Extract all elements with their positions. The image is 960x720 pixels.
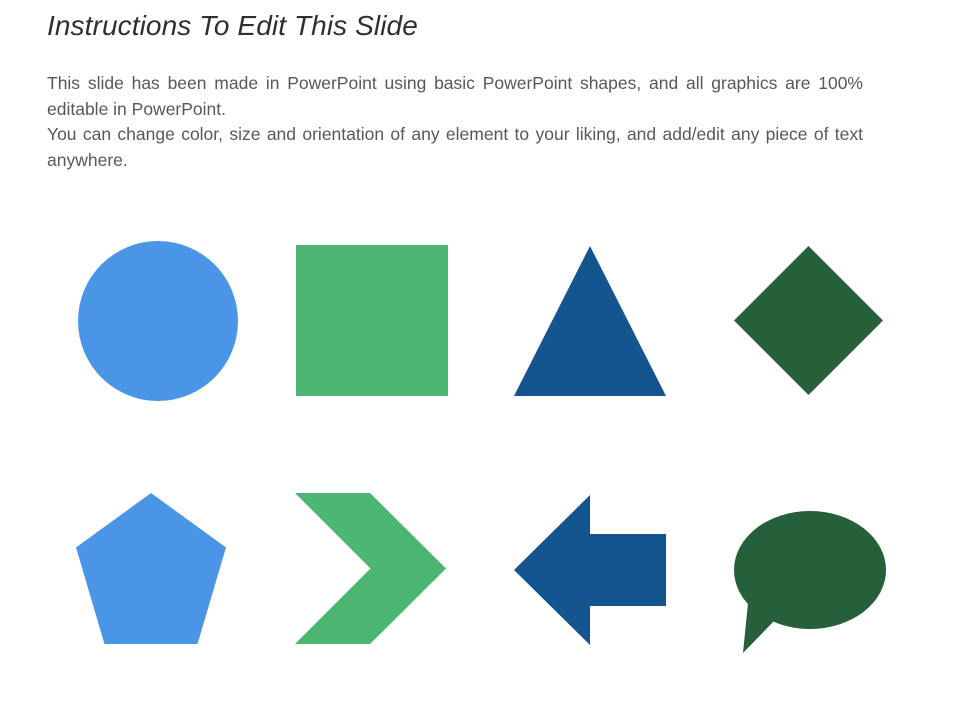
shape-diamond[interactable] xyxy=(734,246,883,395)
shape-chevron-right[interactable] xyxy=(295,493,446,644)
diamond-icon xyxy=(734,246,883,395)
circle-icon xyxy=(78,241,238,401)
chevron-right-icon xyxy=(295,493,446,644)
shape-speech-bubble[interactable] xyxy=(734,511,886,655)
shape-gallery xyxy=(0,0,960,720)
pentagon-icon xyxy=(76,493,226,644)
shape-square[interactable] xyxy=(296,245,448,396)
arrow-left-icon xyxy=(514,495,666,645)
shape-circle[interactable] xyxy=(78,241,238,401)
speech-bubble-icon xyxy=(734,511,886,655)
shape-arrow-left[interactable] xyxy=(514,495,666,645)
square-icon xyxy=(296,245,448,396)
shape-pentagon[interactable] xyxy=(76,493,226,644)
shape-triangle[interactable] xyxy=(514,246,666,396)
triangle-icon xyxy=(514,246,666,396)
slide-canvas: Instructions To Edit This Slide This sli… xyxy=(0,0,960,720)
